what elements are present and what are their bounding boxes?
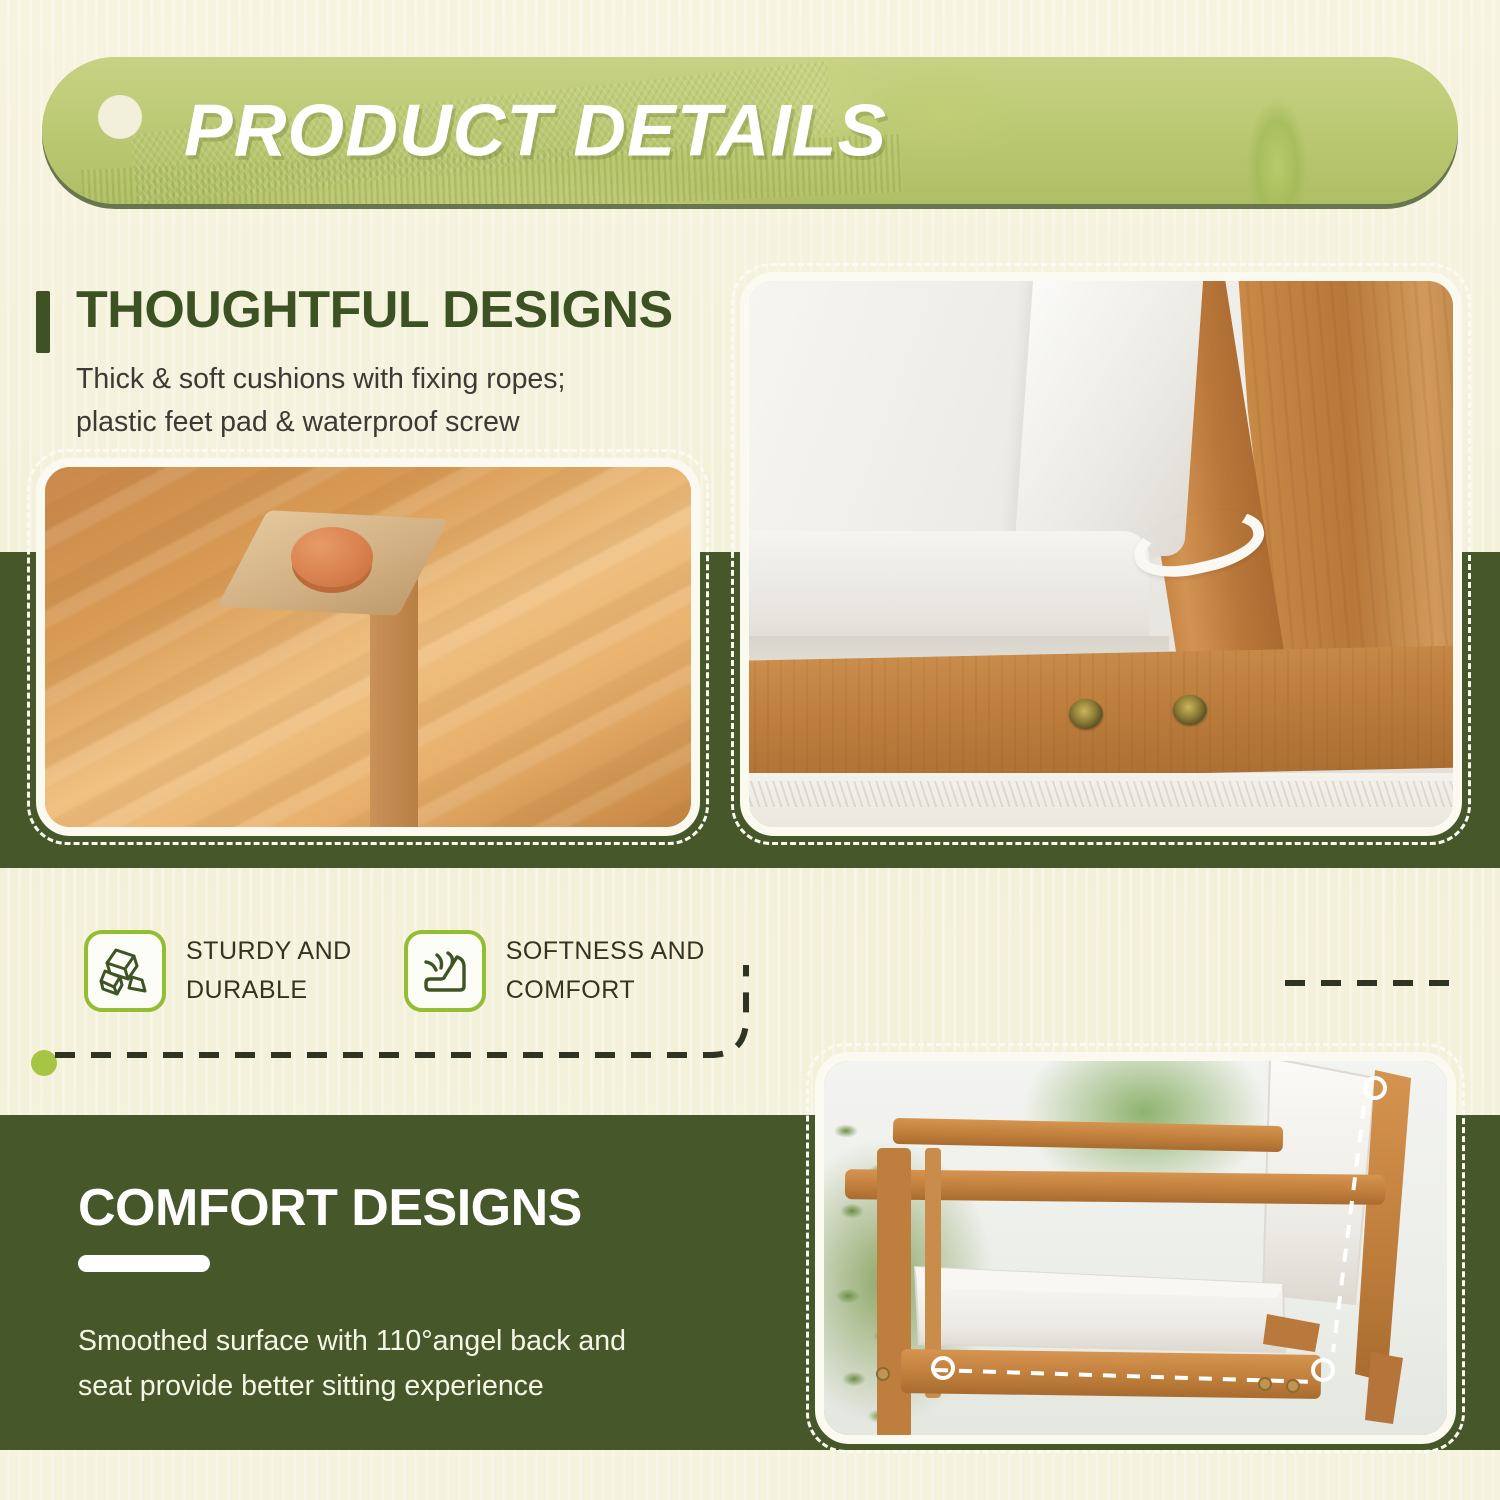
punch-hole-icon: [98, 95, 142, 139]
heading-underline-bar: [78, 1255, 210, 1272]
connector-dashed-line-top: [1285, 885, 1465, 1065]
comfort-designs-body: Smoothed surface with 110°angel back and…: [78, 1319, 738, 1409]
thoughtful-designs-body: Thick & soft cushions with fixing ropes;…: [76, 358, 696, 444]
waterproof-screw-icon: [1173, 695, 1207, 725]
plastic-foot-pad-photo: [36, 458, 700, 836]
floor-rug-strip: [740, 773, 1462, 836]
orange-plastic-foot-pad: [291, 527, 373, 587]
thoughtful-designs-heading: THOUGHTFUL DESIGNS: [76, 283, 696, 338]
chair-illustration: [815, 1052, 1456, 1444]
chair-side-profile-photo: [815, 1052, 1456, 1444]
comfort-designs-heading: COMFORT DESIGNS: [78, 1178, 738, 1238]
comfort-designs-text-block: COMFORT DESIGNS Smoothed surface with 11…: [78, 1178, 738, 1409]
page-title: PRODUCT DETAILS: [184, 89, 887, 172]
thoughtful-designs-text-block: THOUGHTFUL DESIGNS Thick & soft cushions…: [36, 283, 696, 444]
heading-accent-bar: [36, 291, 50, 353]
cushion-fixing-rope-photo: [740, 272, 1462, 836]
waterproof-screw-icon: [1069, 699, 1103, 729]
white-cushion-block: [1014, 272, 1204, 556]
product-details-infographic: PRODUCT DETAILS THOUGHTFUL DESIGNS Thick…: [0, 0, 1500, 1500]
header-tag-banner: PRODUCT DETAILS: [42, 57, 1458, 204]
connector-dashed-line: [50, 960, 840, 1090]
